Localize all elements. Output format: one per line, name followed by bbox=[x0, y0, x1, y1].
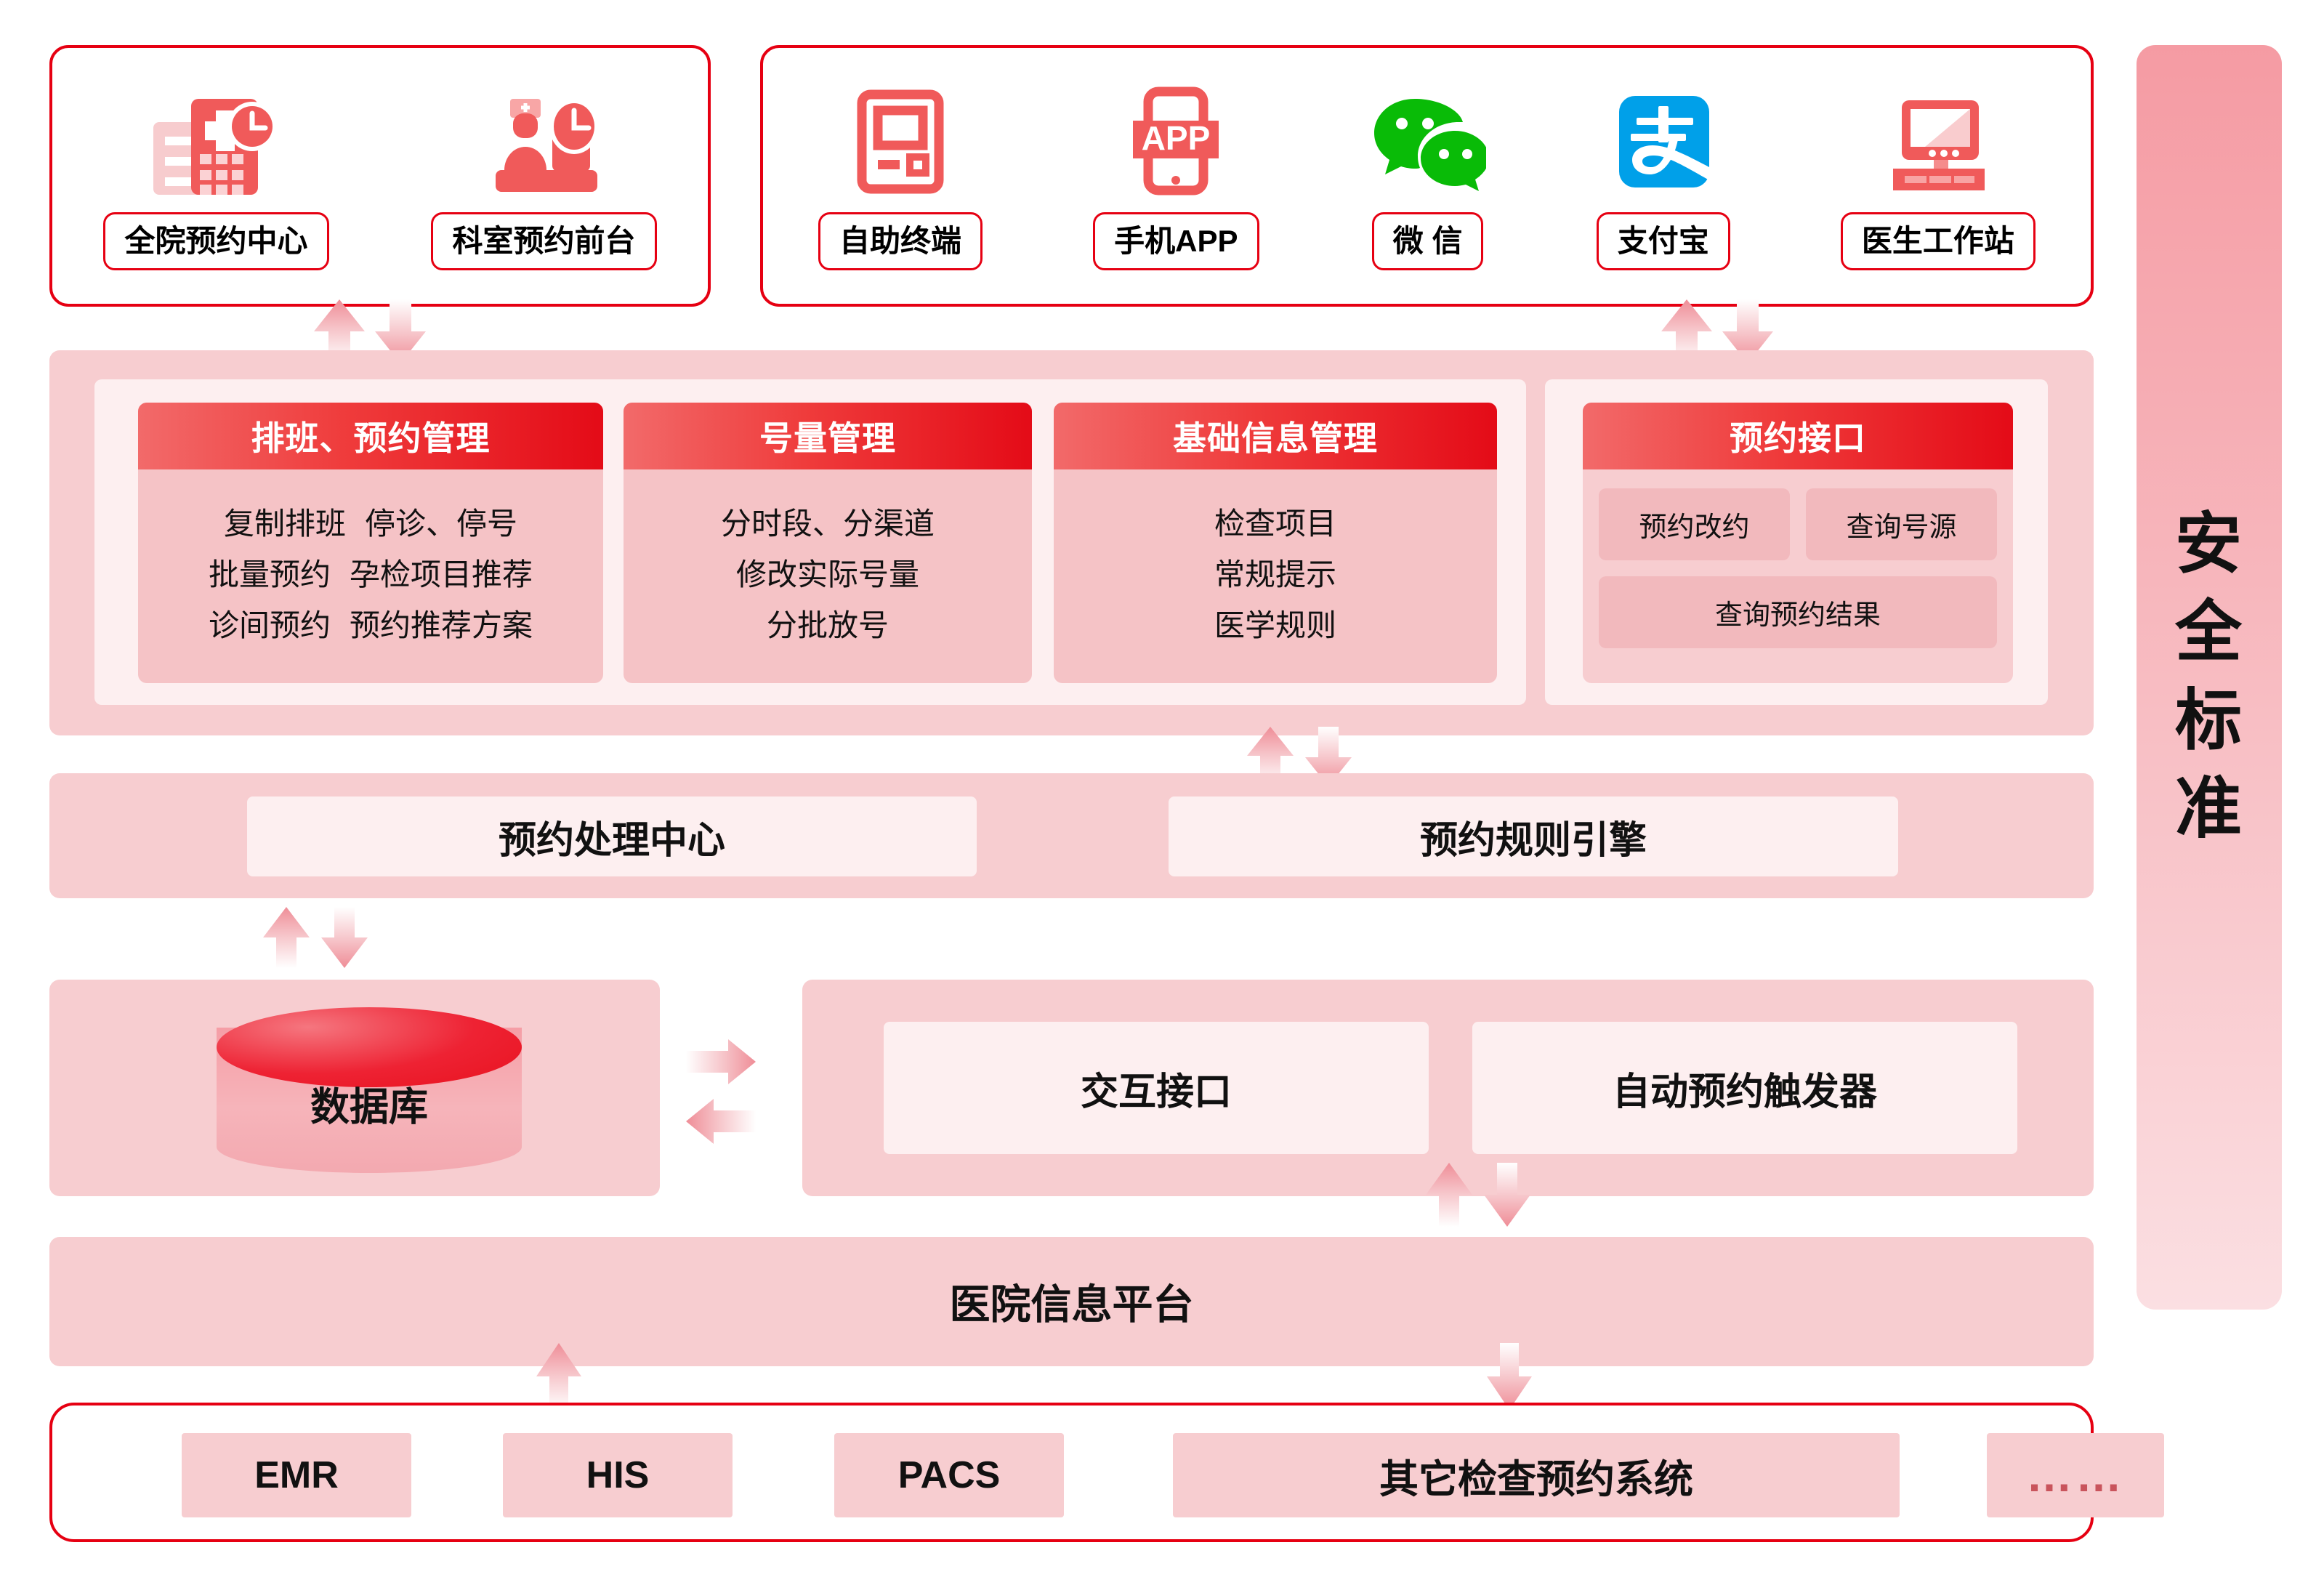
function-card-line: 检查项目 bbox=[1214, 507, 1336, 541]
engine-box-rule-engine[interactable]: 预约规则引擎 bbox=[1169, 796, 1898, 876]
interface-pill[interactable]: 查询号源 bbox=[1806, 488, 1997, 560]
source-chip-label: 其它检查预约系统 bbox=[1379, 1447, 1693, 1504]
channel-label: 手机APP bbox=[1093, 212, 1259, 270]
self-service-kiosk-icon bbox=[846, 87, 955, 196]
data-box-interaction-interface[interactable]: 交互接口 bbox=[884, 1022, 1429, 1154]
channel-label: 医生工作站 bbox=[1841, 212, 2035, 270]
interface-pill[interactable]: 查询预约结果 bbox=[1599, 576, 1997, 648]
security-char: 全 bbox=[2137, 589, 2282, 677]
channel-label: 微 信 bbox=[1372, 212, 1484, 270]
data-box-label: 交互接口 bbox=[1081, 1061, 1232, 1116]
source-chip-label: PACS bbox=[898, 1453, 1001, 1497]
engine-box-processing-center[interactable]: 预约处理中心 bbox=[247, 796, 977, 876]
function-card-line-left: 批量预约 bbox=[209, 557, 331, 592]
function-card-title: 基础信息管理 bbox=[1054, 403, 1497, 469]
function-card-scheduling[interactable]: 排班、预约管理 复制排班停诊、停号 批量预约孕检项目推荐 诊间预约预约推荐方案 bbox=[138, 403, 603, 683]
arrow-down-engine-to-data bbox=[321, 907, 368, 968]
function-card-title: 号量管理 bbox=[624, 403, 1032, 469]
data-box-label: 自动预约触发器 bbox=[1613, 1061, 1877, 1116]
source-chip-his[interactable]: HIS bbox=[503, 1433, 733, 1517]
svg-text:APP: APP bbox=[1142, 119, 1211, 157]
alipay-icon bbox=[1609, 87, 1718, 196]
source-chip-pacs[interactable]: PACS bbox=[834, 1433, 1064, 1517]
function-card-line: 修改实际号量 bbox=[736, 557, 919, 592]
data-box-auto-trigger[interactable]: 自动预约触发器 bbox=[1472, 1022, 2017, 1154]
database-cylinder[interactable]: 数据库 bbox=[217, 1007, 522, 1173]
arrow-down-data-to-platform bbox=[1484, 1163, 1530, 1227]
security-char: 标 bbox=[2137, 677, 2282, 765]
channel-item-appointment-center[interactable]: 全院预约中心 bbox=[103, 87, 328, 304]
function-card-line: 复制排班停诊、停号 bbox=[224, 507, 517, 541]
engine-box-label: 预约处理中心 bbox=[499, 810, 725, 864]
engine-layer-band: 预约处理中心 预约规则引擎 bbox=[49, 773, 2094, 898]
reception-desk-clock-icon bbox=[471, 87, 616, 196]
internal-channels-panel: 全院预约中心 bbox=[49, 45, 711, 307]
source-chip-ellipsis: …… bbox=[1987, 1433, 2164, 1517]
function-layer-band: 排班、预约管理 复制排班停诊、停号 批量预约孕检项目推荐 诊间预约预约推荐方案 … bbox=[49, 350, 2094, 735]
function-card-line-left: 诊间预约 bbox=[209, 608, 331, 642]
channel-label: 科室预约前台 bbox=[431, 212, 656, 270]
mobile-app-icon: APP bbox=[1121, 87, 1230, 196]
database-band: 数据库 bbox=[49, 980, 660, 1196]
function-card-line: 分时段、分渠道 bbox=[721, 507, 935, 541]
wechat-icon bbox=[1370, 87, 1486, 196]
arrow-down-platform-to-sources bbox=[1487, 1343, 1532, 1410]
function-card-line: 诊间预约预约推荐方案 bbox=[209, 608, 533, 643]
arrow-right-db-to-interface bbox=[686, 1039, 756, 1084]
source-chip-emr[interactable]: EMR bbox=[182, 1433, 411, 1517]
interface-pill[interactable]: 预约改约 bbox=[1599, 488, 1790, 560]
platform-layer-band: 医院信息平台 bbox=[49, 1237, 2094, 1366]
platform-layer-label: 医院信息平台 bbox=[49, 1273, 2094, 1331]
channel-item-doctor-workstation[interactable]: 医生工作站 bbox=[1841, 87, 2035, 304]
function-card-quota[interactable]: 号量管理 分时段、分渠道 修改实际号量 分批放号 bbox=[624, 403, 1032, 683]
arrow-left-interface-to-db bbox=[686, 1099, 756, 1144]
arrow-up-sources-to-platform bbox=[536, 1343, 581, 1410]
function-card-title: 排班、预约管理 bbox=[138, 403, 603, 469]
function-card-line: 常规提示 bbox=[1214, 557, 1336, 592]
security-char: 准 bbox=[2137, 765, 2282, 853]
desktop-workstation-icon bbox=[1880, 87, 1996, 196]
channel-label: 全院预约中心 bbox=[103, 212, 328, 270]
function-card-line: 批量预约孕检项目推荐 bbox=[209, 557, 533, 592]
channel-item-wechat[interactable]: 微 信 bbox=[1370, 87, 1486, 304]
arrow-up-platform-to-data bbox=[1426, 1163, 1472, 1227]
engine-box-label: 预约规则引擎 bbox=[1420, 810, 1647, 864]
function-card-line: 分批放号 bbox=[767, 608, 889, 643]
function-card-appointment-interface[interactable]: 预约接口 预约改约 查询号源 查询预约结果 bbox=[1583, 403, 2013, 683]
source-chip-other-systems[interactable]: 其它检查预约系统 bbox=[1173, 1433, 1900, 1517]
channel-item-department-desk[interactable]: 科室预约前台 bbox=[431, 87, 656, 304]
security-standard-band: 安 全 标 准 bbox=[2137, 45, 2282, 1310]
function-card-line-right: 预约推荐方案 bbox=[350, 608, 533, 642]
function-card-line-right: 孕检项目推荐 bbox=[350, 557, 533, 592]
arrow-up-data-to-engine bbox=[263, 907, 310, 968]
channel-item-alipay[interactable]: 支付宝 bbox=[1597, 87, 1730, 304]
function-card-line-left: 复制排班 bbox=[224, 507, 346, 541]
external-channels-panel: 自助终端 APP 手机APP bbox=[760, 45, 2094, 307]
source-chip-label: …… bbox=[2026, 1448, 2125, 1502]
database-label: 数据库 bbox=[217, 1075, 522, 1132]
architecture-diagram: 全院预约中心 bbox=[0, 0, 2324, 1585]
source-systems-panel: EMR HIS PACS 其它检查预约系统 …… bbox=[49, 1403, 2094, 1542]
channel-item-kiosk[interactable]: 自助终端 bbox=[818, 87, 983, 304]
channel-label: 自助终端 bbox=[818, 212, 983, 270]
function-card-line-right: 停诊、停号 bbox=[365, 507, 517, 541]
channel-label: 支付宝 bbox=[1597, 212, 1730, 270]
channel-item-mobile-app[interactable]: APP 手机APP bbox=[1093, 87, 1259, 304]
source-chip-label: HIS bbox=[586, 1453, 650, 1497]
hospital-clock-icon bbox=[143, 87, 289, 196]
function-card-line: 医学规则 bbox=[1214, 608, 1336, 643]
source-chip-label: EMR bbox=[254, 1453, 339, 1497]
function-card-basic-info[interactable]: 基础信息管理 检查项目 常规提示 医学规则 bbox=[1054, 403, 1497, 683]
security-standard-label: 安 全 标 准 bbox=[2137, 501, 2282, 854]
security-char: 安 bbox=[2137, 501, 2282, 589]
function-card-title: 预约接口 bbox=[1583, 403, 2013, 469]
